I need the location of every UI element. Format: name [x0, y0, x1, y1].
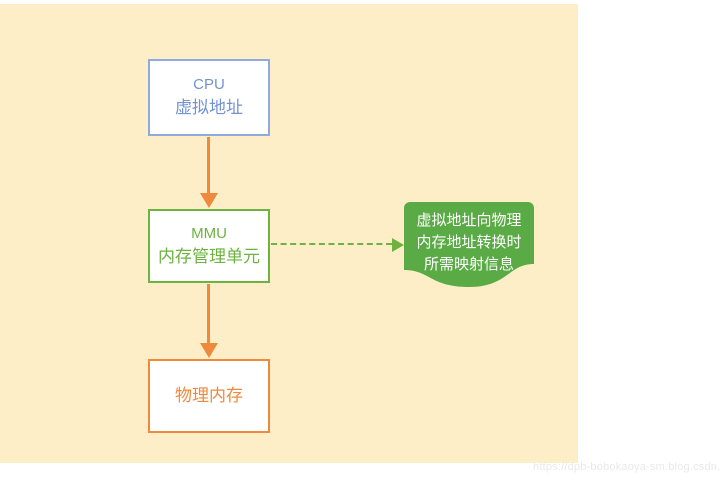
node-physical-memory-label: 物理内存	[175, 384, 243, 409]
arrow-shaft	[207, 137, 210, 194]
banner-line-2: 内存地址转换时	[404, 232, 534, 254]
node-cpu: CPU 虚拟地址	[148, 59, 270, 136]
watermark: https://dpb-bobokaoya-sm.blog.csdn.net	[533, 461, 720, 473]
arrow-mmu-to-physical-memory	[200, 284, 218, 358]
node-mmu: MMU 内存管理单元	[148, 209, 270, 283]
node-cpu-label-line2: 虚拟地址	[175, 96, 243, 121]
arrow-head-icon	[200, 193, 218, 208]
banner-line-3: 所需映射信息	[404, 254, 534, 276]
node-mmu-label-line2: 内存管理单元	[158, 245, 260, 270]
arrow-head-icon	[392, 238, 404, 252]
banner-text: 虚拟地址向物理 内存地址转换时 所需映射信息	[404, 210, 534, 275]
node-physical-memory: 物理内存	[148, 359, 270, 433]
banner-line-1: 虚拟地址向物理	[404, 210, 534, 232]
dashed-line	[271, 243, 392, 245]
arrow-mmu-to-mapping-note	[271, 238, 404, 252]
arrow-cpu-to-mmu	[200, 137, 218, 208]
banner-mapping-note: 虚拟地址向物理 内存地址转换时 所需映射信息	[404, 202, 534, 287]
node-cpu-label-line1: CPU	[193, 74, 225, 96]
node-mmu-label-line1: MMU	[191, 223, 227, 245]
diagram-canvas: CPU 虚拟地址 MMU 内存管理单元 虚拟地址向物理 内存地址转换时 所需映射…	[0, 4, 578, 463]
arrow-head-icon	[200, 343, 218, 358]
arrow-shaft	[207, 284, 210, 344]
